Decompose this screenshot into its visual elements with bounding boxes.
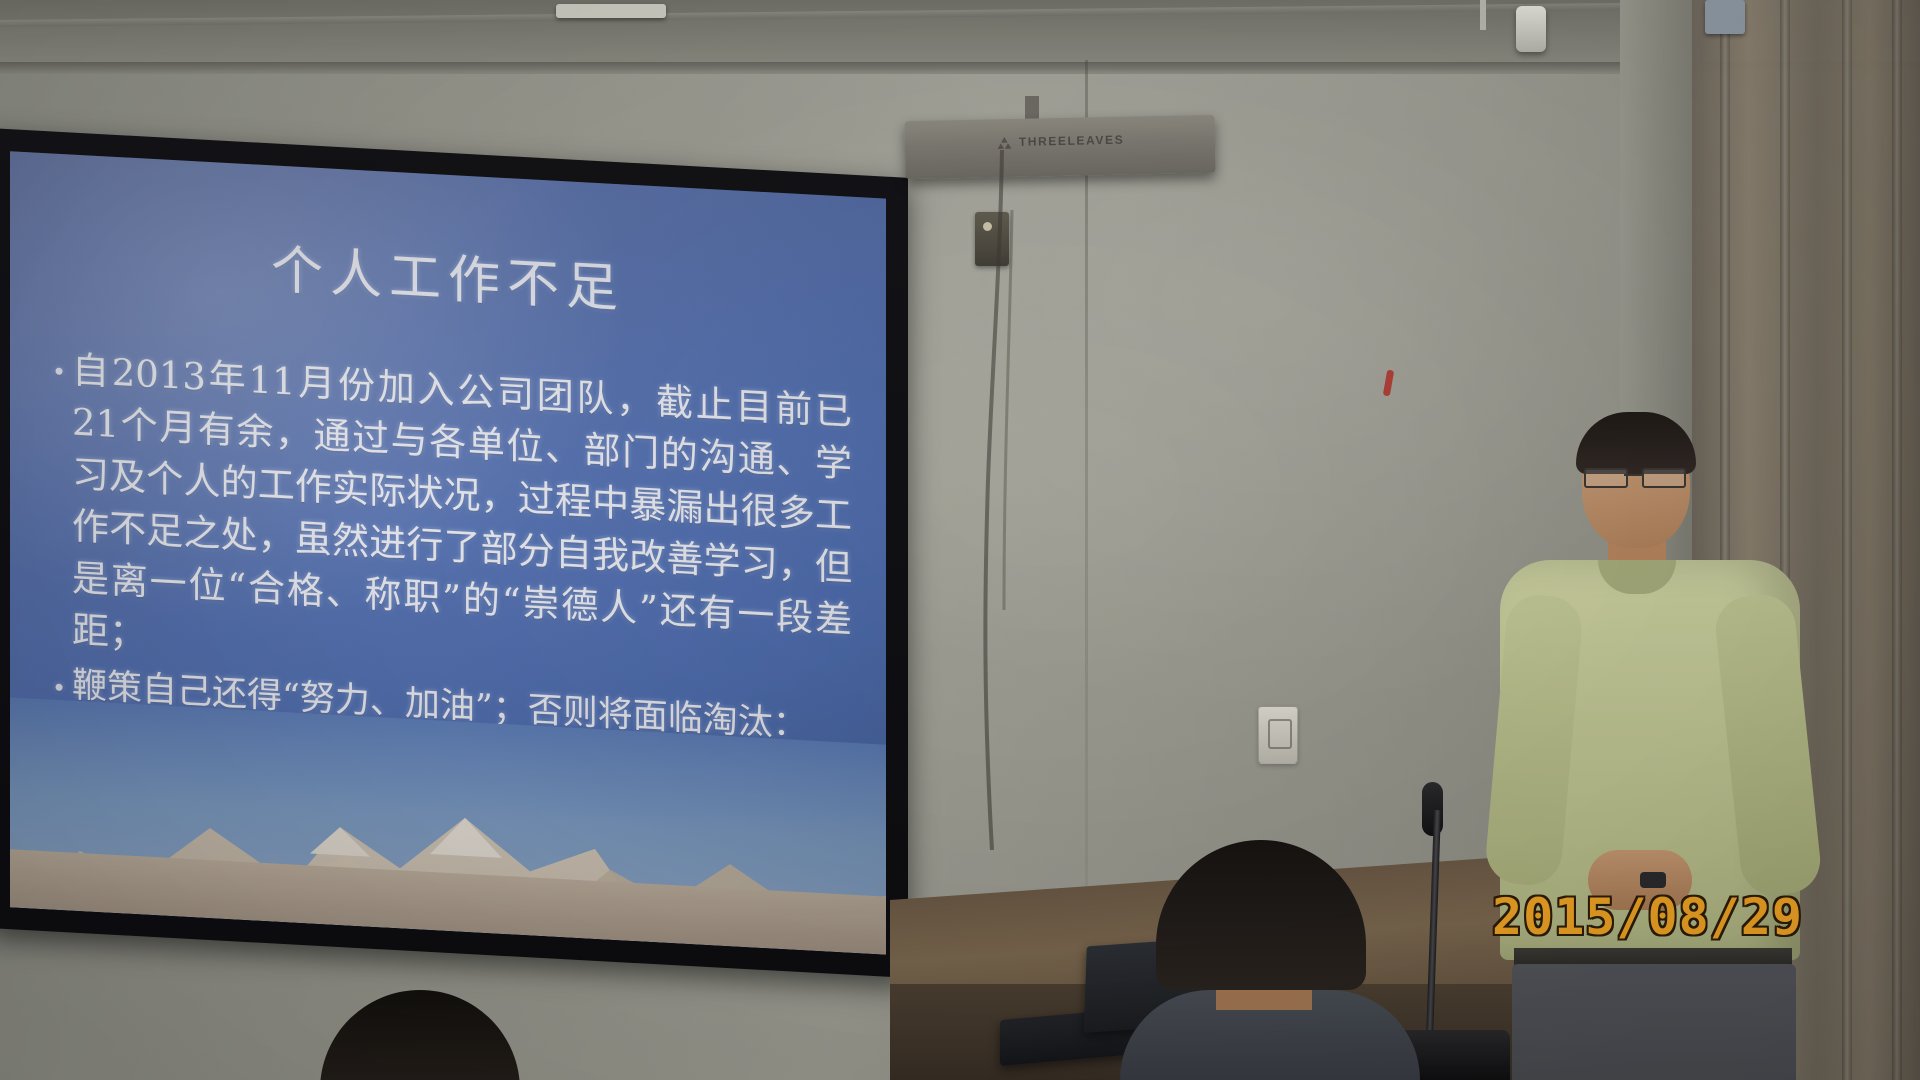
slide-body: • 自2013年11月份加入公司团队，截止目前已21个月有余，通过与各单位、部门… xyxy=(46,343,852,761)
three-leaves-logo-icon xyxy=(997,136,1012,149)
outlet-socket-icon xyxy=(1268,719,1292,749)
projection-screen-surface: 个人工作不足 • 自2013年11月份加入公司团队，截止目前已21个月有余，通过… xyxy=(10,151,886,954)
projection-screen: 个人工作不足 • 自2013年11月份加入公司团队，截止目前已21个月有余，通过… xyxy=(0,128,908,978)
ceiling-sprinkler-icon xyxy=(1516,6,1546,52)
presenter-glasses-icon xyxy=(1584,468,1688,484)
presenter-hair xyxy=(1576,412,1696,474)
ceiling-fixture-right xyxy=(1705,0,1745,34)
ceiling-hook xyxy=(1480,0,1486,30)
power-outlet[interactable] xyxy=(1258,706,1298,764)
presentation-slide: 个人工作不足 • 自2013年11月份加入公司团队，截止目前已21个月有余，通过… xyxy=(10,151,886,954)
slide-title: 个人工作不足 xyxy=(10,213,886,335)
wall-cable xyxy=(940,150,1140,850)
photo-scene: 个人工作不足 • 自2013年11月份加入公司团队，截止目前已21个月有余，通过… xyxy=(0,0,1920,1080)
projector-brand-label: THREELEAVES xyxy=(997,133,1125,150)
audience-member-foreground xyxy=(1120,840,1420,1080)
presenter-figure xyxy=(1490,420,1820,1080)
bullet-marker-icon: • xyxy=(46,343,72,398)
presentation-clicker[interactable] xyxy=(1640,872,1666,888)
presenter-trousers xyxy=(1512,964,1796,1080)
camera-date-stamp: 2015/08/29 xyxy=(1492,888,1803,946)
audience-member-left xyxy=(300,990,550,1080)
slide-bullet-text: 自2013年11月份加入公司团队，截止目前已21个月有余，通过与各单位、部门的沟… xyxy=(72,345,852,699)
ceiling-fixture-left xyxy=(556,4,666,18)
projector-brand-text: THREELEAVES xyxy=(1019,133,1125,149)
slide-bullet-item: • 自2013年11月份加入公司团队，截止目前已21个月有余，通过与各单位、部门… xyxy=(46,343,852,699)
